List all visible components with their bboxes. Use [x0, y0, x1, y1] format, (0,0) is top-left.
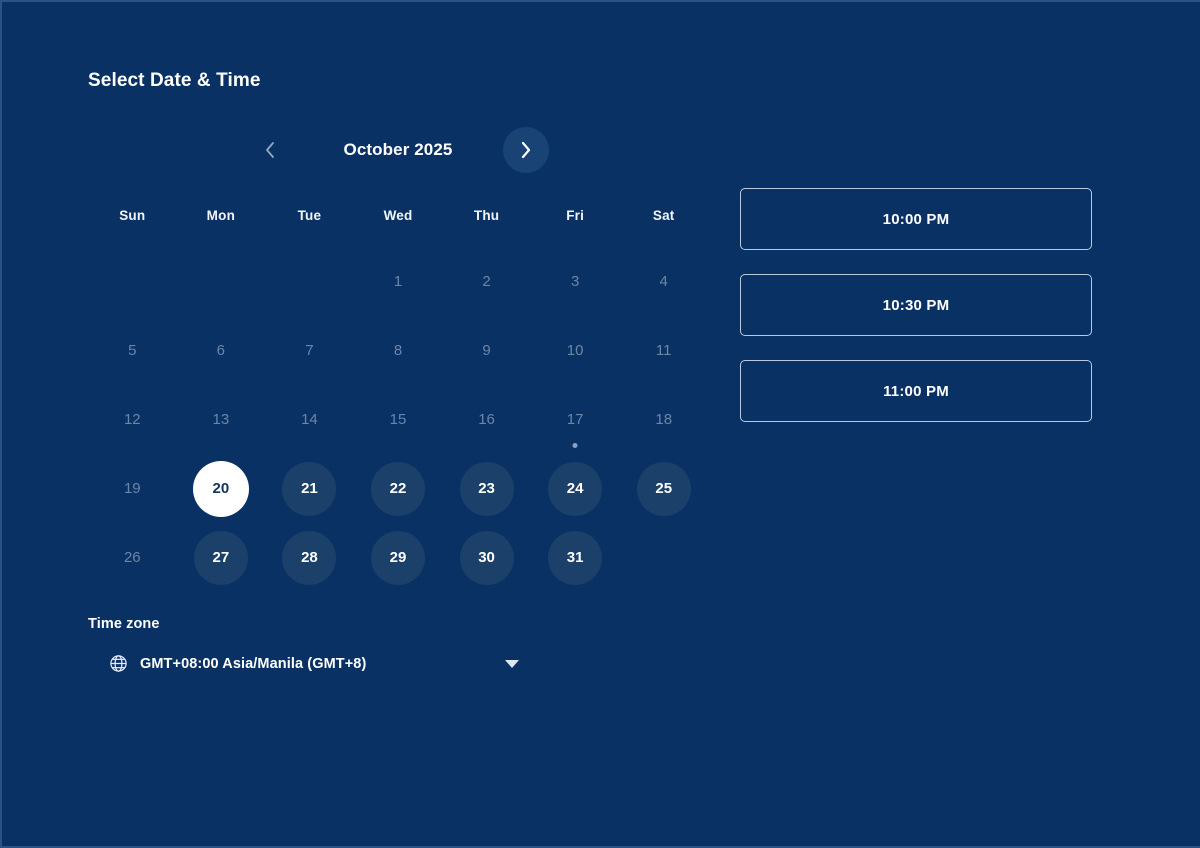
calendar-day-label: 7	[282, 324, 336, 378]
calendar-day-9: 9	[442, 316, 531, 385]
weekday-tue: Tue	[265, 208, 354, 223]
calendar-day-label: 2	[460, 255, 514, 309]
calendar-day-empty	[177, 247, 266, 316]
page-title: Select Date & Time	[88, 70, 261, 92]
calendar-day-empty	[88, 247, 177, 316]
calendar-day-12: 12	[88, 385, 177, 454]
calendar-day-label: 14	[282, 393, 336, 447]
calendar-day-5: 5	[88, 316, 177, 385]
calendar-day-label: 25	[637, 462, 691, 516]
calendar-day-label: 11	[637, 324, 691, 378]
calendar-day-26: 26	[88, 523, 177, 592]
calendar-day-label: 20	[194, 462, 248, 516]
next-month-button[interactable]	[503, 127, 549, 173]
calendar-day-24[interactable]: 24	[531, 454, 620, 523]
weekday-header-row: Sun Mon Tue Wed Thu Fri Sat	[88, 208, 708, 223]
calendar-day-2: 2	[442, 247, 531, 316]
calendar-day-29[interactable]: 29	[354, 523, 443, 592]
calendar-day-16: 16	[442, 385, 531, 454]
prev-month-button[interactable]	[247, 127, 293, 173]
calendar-day-empty	[265, 247, 354, 316]
calendar-day-label: 21	[282, 462, 336, 516]
calendar-day-label: 6	[194, 324, 248, 378]
calendar-day-6: 6	[177, 316, 266, 385]
calendar-day-label: 13	[194, 393, 248, 447]
calendar-day-25[interactable]: 25	[619, 454, 708, 523]
caret-down-icon[interactable]	[505, 660, 519, 668]
time-slot-button[interactable]: 11:00 PM	[740, 360, 1092, 422]
calendar-day-label: 22	[371, 462, 425, 516]
today-dot-marker	[573, 443, 578, 448]
calendar-day-23[interactable]: 23	[442, 454, 531, 523]
time-slot-button[interactable]: 10:00 PM	[740, 188, 1092, 250]
calendar-day-label: 1	[371, 255, 425, 309]
calendar-day-grid: 1234567891011121314151617181920212223242…	[88, 247, 708, 592]
weekday-fri: Fri	[531, 208, 620, 223]
calendar-day-label: 9	[460, 324, 514, 378]
timezone-label: Time zone	[88, 616, 548, 632]
calendar-day-label: 30	[460, 531, 514, 585]
calendar-day-label: 4	[637, 255, 691, 309]
calendar-day-17: 17	[531, 385, 620, 454]
calendar-day-label: 27	[194, 531, 248, 585]
calendar-day-7: 7	[265, 316, 354, 385]
time-slot-button[interactable]: 10:30 PM	[740, 274, 1092, 336]
calendar-day-label: 28	[282, 531, 336, 585]
calendar-day-label: 23	[460, 462, 514, 516]
calendar-day-label: 12	[105, 393, 159, 447]
calendar-day-10: 10	[531, 316, 620, 385]
calendar-day-label: 31	[548, 531, 602, 585]
calendar-day-label: 17	[548, 393, 602, 447]
calendar-day-13: 13	[177, 385, 266, 454]
calendar-day-label: 15	[371, 393, 425, 447]
calendar-day-18: 18	[619, 385, 708, 454]
weekday-mon: Mon	[177, 208, 266, 223]
calendar-day-19: 19	[88, 454, 177, 523]
booking-datetime-panel: Select Date & Time October 2025	[0, 0, 1200, 848]
timezone-section: Time zone GMT+08:00 Asia/Manila (GMT+8)	[88, 616, 548, 673]
month-navigation: October 2025	[88, 120, 708, 180]
calendar-day-28[interactable]: 28	[265, 523, 354, 592]
weekday-sat: Sat	[619, 208, 708, 223]
calendar-day-15: 15	[354, 385, 443, 454]
calendar-day-14: 14	[265, 385, 354, 454]
calendar-day-label: 29	[371, 531, 425, 585]
chevron-left-icon	[262, 139, 278, 161]
weekday-wed: Wed	[354, 208, 443, 223]
calendar-day-4: 4	[619, 247, 708, 316]
calendar-day-label: 26	[105, 531, 159, 585]
weekday-sun: Sun	[88, 208, 177, 223]
calendar-day-27[interactable]: 27	[177, 523, 266, 592]
time-slot-list: 10:00 PM10:30 PM11:00 PM	[740, 120, 1092, 422]
calendar-day-label: 18	[637, 393, 691, 447]
time-slot-label: 10:00 PM	[883, 211, 950, 228]
calendar-day-30[interactable]: 30	[442, 523, 531, 592]
calendar-day-label: 24	[548, 462, 602, 516]
calendar-day-label: 5	[105, 324, 159, 378]
globe-icon	[109, 654, 128, 673]
chevron-right-icon	[518, 139, 534, 161]
time-slot-label: 11:00 PM	[883, 383, 949, 400]
calendar-day-22[interactable]: 22	[354, 454, 443, 523]
calendar-day-8: 8	[354, 316, 443, 385]
timezone-value: GMT+08:00 Asia/Manila (GMT+8)	[140, 656, 366, 672]
calendar-day-label: 19	[105, 462, 159, 516]
calendar-day-11: 11	[619, 316, 708, 385]
calendar-day-21[interactable]: 21	[265, 454, 354, 523]
timezone-select[interactable]: GMT+08:00 Asia/Manila (GMT+8)	[109, 654, 519, 673]
calendar-day-label: 8	[371, 324, 425, 378]
calendar-day-1: 1	[354, 247, 443, 316]
calendar-day-31[interactable]: 31	[531, 523, 620, 592]
calendar-day-label: 10	[548, 324, 602, 378]
calendar: October 2025 Sun Mon Tue Wed Thu Fri Sat	[88, 120, 708, 592]
calendar-day-label: 3	[548, 255, 602, 309]
datetime-content: October 2025 Sun Mon Tue Wed Thu Fri Sat	[88, 120, 1118, 592]
weekday-thu: Thu	[442, 208, 531, 223]
calendar-day-label: 16	[460, 393, 514, 447]
calendar-day-3: 3	[531, 247, 620, 316]
time-slot-label: 10:30 PM	[883, 297, 950, 314]
month-label: October 2025	[293, 140, 503, 160]
calendar-day-20[interactable]: 20	[177, 454, 266, 523]
